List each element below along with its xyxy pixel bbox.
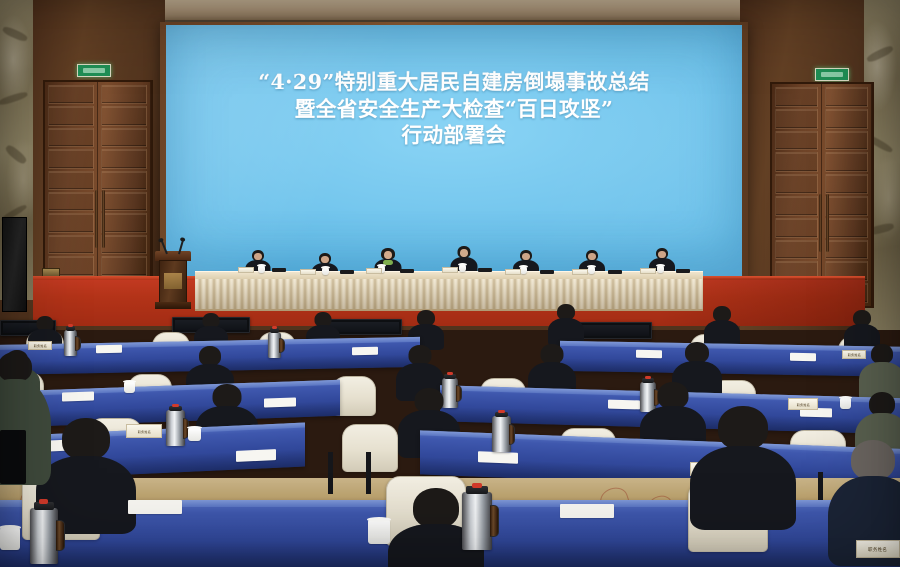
desk-microphone-icon	[540, 270, 554, 274]
vacuum-flask	[492, 416, 511, 452]
tea-cup	[124, 382, 135, 393]
desk-microphone-icon	[272, 268, 286, 272]
lectern-emblem-plate	[164, 273, 182, 289]
lectern[interactable]	[155, 251, 191, 309]
placard-text: 职务姓名	[33, 343, 46, 348]
banner-line-1: “4·29”特别重大居民自建房倒塌事故总结	[166, 69, 742, 96]
vacuum-flask	[30, 508, 58, 564]
projection-screen: “4·29”特别重大居民自建房倒塌事故总结 暨全省安全生产大检查“百日攻坚” 行…	[166, 25, 742, 277]
desk-microphone-icon	[400, 269, 414, 273]
exit-sign-right-icon	[815, 68, 849, 81]
head-table-teacup	[459, 265, 466, 272]
delegate	[548, 304, 584, 344]
delegate-paper	[790, 353, 816, 361]
head-table-placard	[572, 269, 588, 275]
head-table-placard	[640, 268, 656, 274]
table-leg	[328, 452, 333, 494]
screen-banner-text: “4·29”特别重大居民自建房倒塌事故总结 暨全省安全生产大检查“百日攻坚” 行…	[166, 69, 742, 149]
floor-speaker-left	[2, 217, 27, 312]
placard-text: 职务姓名	[137, 429, 150, 434]
delegate-paper	[96, 345, 122, 353]
delegate-paper	[352, 347, 378, 355]
delegate-paper	[128, 500, 182, 514]
tea-cup	[0, 528, 20, 550]
desk-microphone-icon	[676, 269, 690, 273]
head-table-teacup	[322, 268, 329, 275]
desk-microphone-icon	[478, 268, 492, 272]
delegate-paper	[478, 451, 518, 464]
placard-text: 职务姓名	[796, 402, 809, 407]
delegate-paper	[62, 391, 94, 401]
vacuum-flask	[166, 410, 185, 446]
delegate-table-row1b	[560, 341, 900, 377]
exit-sign-left-icon	[77, 64, 111, 77]
door-handle-icon[interactable]	[102, 190, 105, 248]
delegate-paper	[560, 504, 614, 518]
delegate	[704, 306, 740, 346]
table-leg	[366, 452, 371, 494]
delegate-paper	[236, 449, 276, 462]
desk-microphone-icon	[340, 270, 354, 274]
door-leaf	[822, 84, 872, 306]
head-table-placard	[238, 267, 254, 273]
head-table-teacup	[258, 266, 265, 273]
lectern-base	[155, 302, 191, 309]
door-handle-icon[interactable]	[819, 194, 822, 252]
banner-line-2: 暨全省安全生产大检查“百日攻坚”	[166, 96, 742, 123]
head-table-teacup	[588, 267, 595, 274]
delegate-placard: 职务姓名	[856, 540, 900, 558]
door-handle-icon[interactable]	[826, 194, 829, 252]
desk-microphone-icon	[608, 270, 622, 274]
placard-text: 职务姓名	[868, 546, 887, 552]
conference-hall-photo: “4·29”特别重大居民自建房倒塌事故总结 暨全省安全生产大检查“百日攻坚” 行…	[0, 0, 900, 567]
delegate-placard: 职务姓名	[28, 341, 52, 350]
vacuum-flask	[64, 330, 77, 356]
delegate-paper	[608, 400, 640, 410]
door-handle-icon[interactable]	[95, 190, 98, 248]
head-table	[195, 271, 703, 311]
head-table-placard	[442, 267, 458, 273]
vacuum-flask	[462, 492, 492, 550]
head-table-teacup	[657, 266, 664, 273]
camera-equipment	[0, 430, 26, 484]
banner-line-3: 行动部署会	[166, 122, 742, 149]
delegate-paper	[264, 397, 296, 407]
door-leaf	[98, 82, 151, 300]
head-table-placard	[366, 268, 382, 274]
lectern-body	[159, 260, 187, 303]
head-table-skirt	[195, 279, 703, 311]
tea-cup	[368, 520, 390, 544]
hall-door-right[interactable]	[770, 82, 874, 308]
head-table-teacup	[520, 267, 527, 274]
head-table-placard	[505, 269, 521, 275]
tea-cup	[188, 428, 201, 441]
placard-text: 职务姓名	[847, 352, 860, 357]
delegate-paper	[636, 350, 662, 358]
delegate-foreground	[690, 406, 796, 526]
vacuum-flask	[268, 332, 281, 358]
door-leaf	[772, 84, 822, 306]
tea-cup	[840, 398, 851, 409]
head-table-placard	[300, 269, 316, 275]
